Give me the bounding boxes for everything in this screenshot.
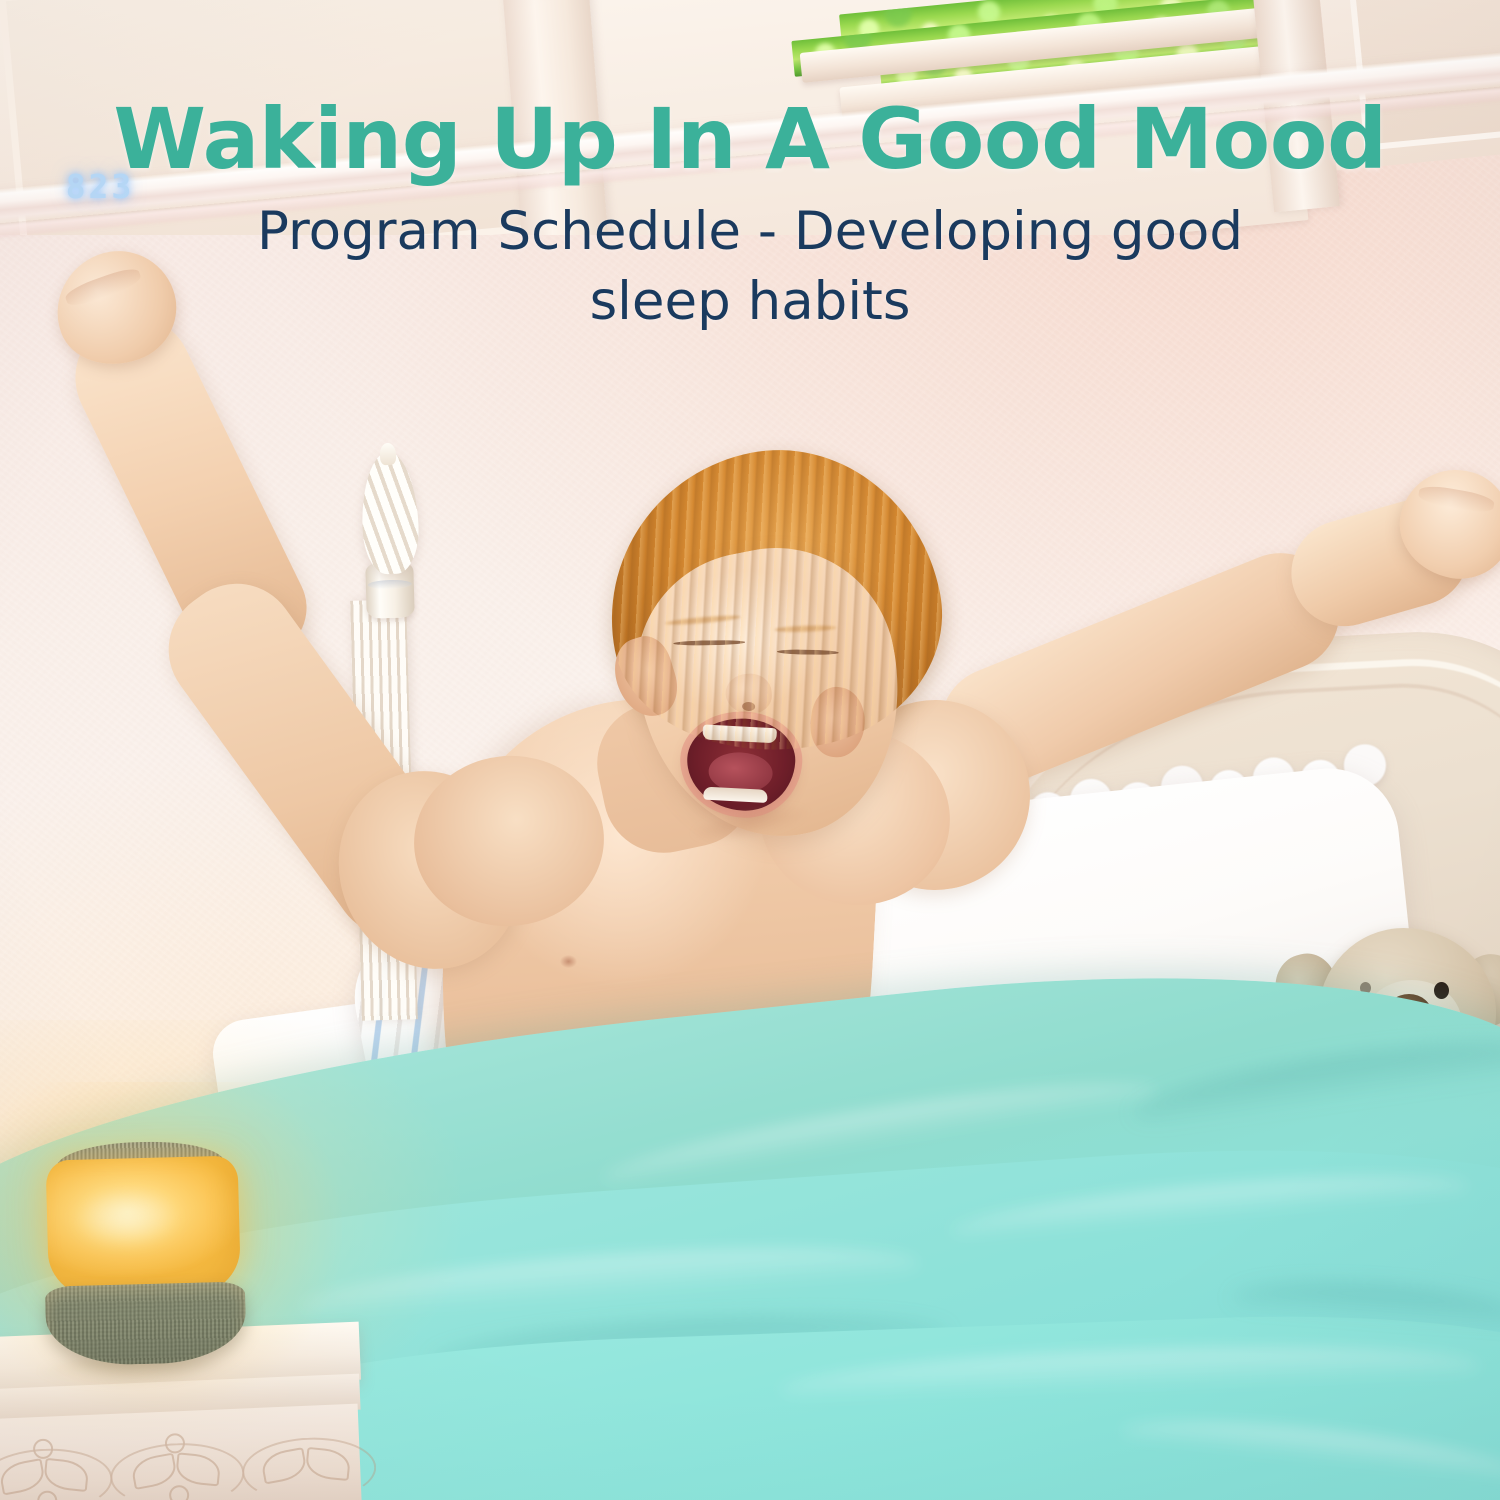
device-night-light[interactable] bbox=[46, 1156, 242, 1301]
boy-lower-teeth bbox=[703, 787, 768, 803]
nightstand-carving bbox=[0, 1420, 352, 1500]
device-light-highlight bbox=[72, 1187, 182, 1250]
text-overlay: Waking Up In A Good Mood Program Schedul… bbox=[0, 0, 1500, 337]
boy-hair-strands bbox=[583, 423, 964, 780]
sleep-trainer-clock[interactable] bbox=[39, 1139, 250, 1366]
device-fabric-base bbox=[45, 1281, 247, 1366]
page-subtitle: Program Schedule - Developing good sleep… bbox=[190, 197, 1310, 337]
scene-canvas: 823 Waking Up In A Good Mood Program Sch… bbox=[0, 0, 1500, 1500]
boy-head bbox=[565, 418, 1005, 881]
page-title: Waking Up In A Good Mood bbox=[0, 0, 1500, 183]
boy-chest-detail-left bbox=[560, 955, 577, 968]
